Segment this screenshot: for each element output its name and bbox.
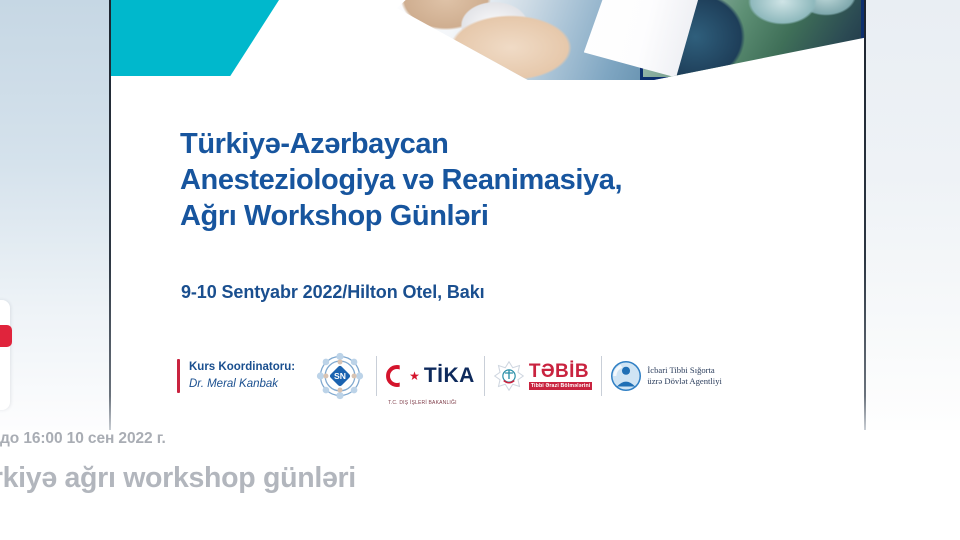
crescent-icon: [386, 365, 408, 387]
itsda-logo: İcbari Tibbi Sığorta üzrə Dövlət Agentli…: [611, 348, 721, 404]
tika-wordmark: TİKA: [424, 364, 475, 388]
poster-footer: Kurs Koordinatoru: Dr. Meral Kanbak: [177, 348, 817, 404]
poster-right-border: [864, 0, 866, 430]
itsda-person-icon: [611, 361, 641, 391]
poster-title: Türkiyə-Azərbaycan Anesteziologiya və Re…: [180, 126, 780, 234]
itsda-line-1: İcbari Tibbi Sığorta: [647, 365, 721, 376]
tebib-wordmark-group: TƏBİB Tibbi Ərazi Bölmələrini: [529, 362, 593, 390]
tebib-tagline: Tibbi Ərazi Bölmələrini: [529, 382, 593, 390]
event-poster-image[interactable]: Türkiyə-Azərbaycan Anesteziologiya və Re…: [111, 0, 864, 430]
coordinator-role-label: Kurs Koordinatoru:: [189, 359, 295, 376]
poster-date-venue: 9-10 Sentyabr 2022/Hilton Otel, Bakı: [181, 282, 485, 303]
itsda-wordmark: İcbari Tibbi Sığorta üzrə Dövlət Agentli…: [647, 365, 721, 387]
itsda-line-2: üzrə Dövlət Agentliyi: [647, 376, 721, 387]
tika-tagline: T.C. DIŞ İŞLERİ BAKANLIĞI: [388, 400, 457, 406]
logo-divider: [601, 356, 602, 396]
svg-text:SN: SN: [334, 371, 346, 381]
event-title[interactable]: baycan-Türkiyə ağrı workshop günləri: [0, 462, 356, 495]
event-datetime: сен 2022 г. до 16:00 10 сен 2022 г.: [0, 430, 166, 448]
tebib-wordmark: TƏBİB: [529, 362, 593, 381]
poster-title-line-3: Ağrı Workshop Günləri: [180, 198, 780, 234]
tebib-logo: TƏBİB Tibbi Ərazi Bölmələrini: [494, 348, 593, 404]
favorite-card[interactable]: [0, 300, 10, 410]
screenshot-root: Türkiyə-Azərbaycan Anesteziologiya və Re…: [0, 0, 960, 540]
rosette-icon: SN: [315, 351, 365, 401]
course-coordinator: Kurs Koordinatoru: Dr. Meral Kanbak: [177, 359, 313, 393]
logo-divider: [484, 356, 485, 396]
cyan-accent-shape: [111, 0, 279, 76]
tika-logo: ★ TİKA T.C. DIŞ İŞLERİ BAKANLIĞI: [386, 348, 475, 404]
poster-title-line-2: Anesteziologiya və Reanimasiya,: [180, 162, 780, 198]
logo-divider: [376, 356, 377, 396]
tebib-star-icon: [494, 361, 524, 391]
page-backdrop-left: [0, 0, 110, 430]
favorite-badge[interactable]: [0, 325, 12, 347]
poster-title-line-1: Türkiyə-Azərbaycan: [180, 126, 780, 162]
poster-photo-collage: [397, 0, 864, 80]
page-backdrop-right: [866, 0, 960, 430]
coordinator-accent-rule: [177, 359, 180, 393]
coordinator-name: Dr. Meral Kanbak: [189, 376, 295, 393]
rosette-logo: SN: [313, 348, 367, 404]
star-icon: ★: [409, 370, 420, 382]
coordinator-text: Kurs Koordinatoru: Dr. Meral Kanbak: [189, 359, 295, 393]
